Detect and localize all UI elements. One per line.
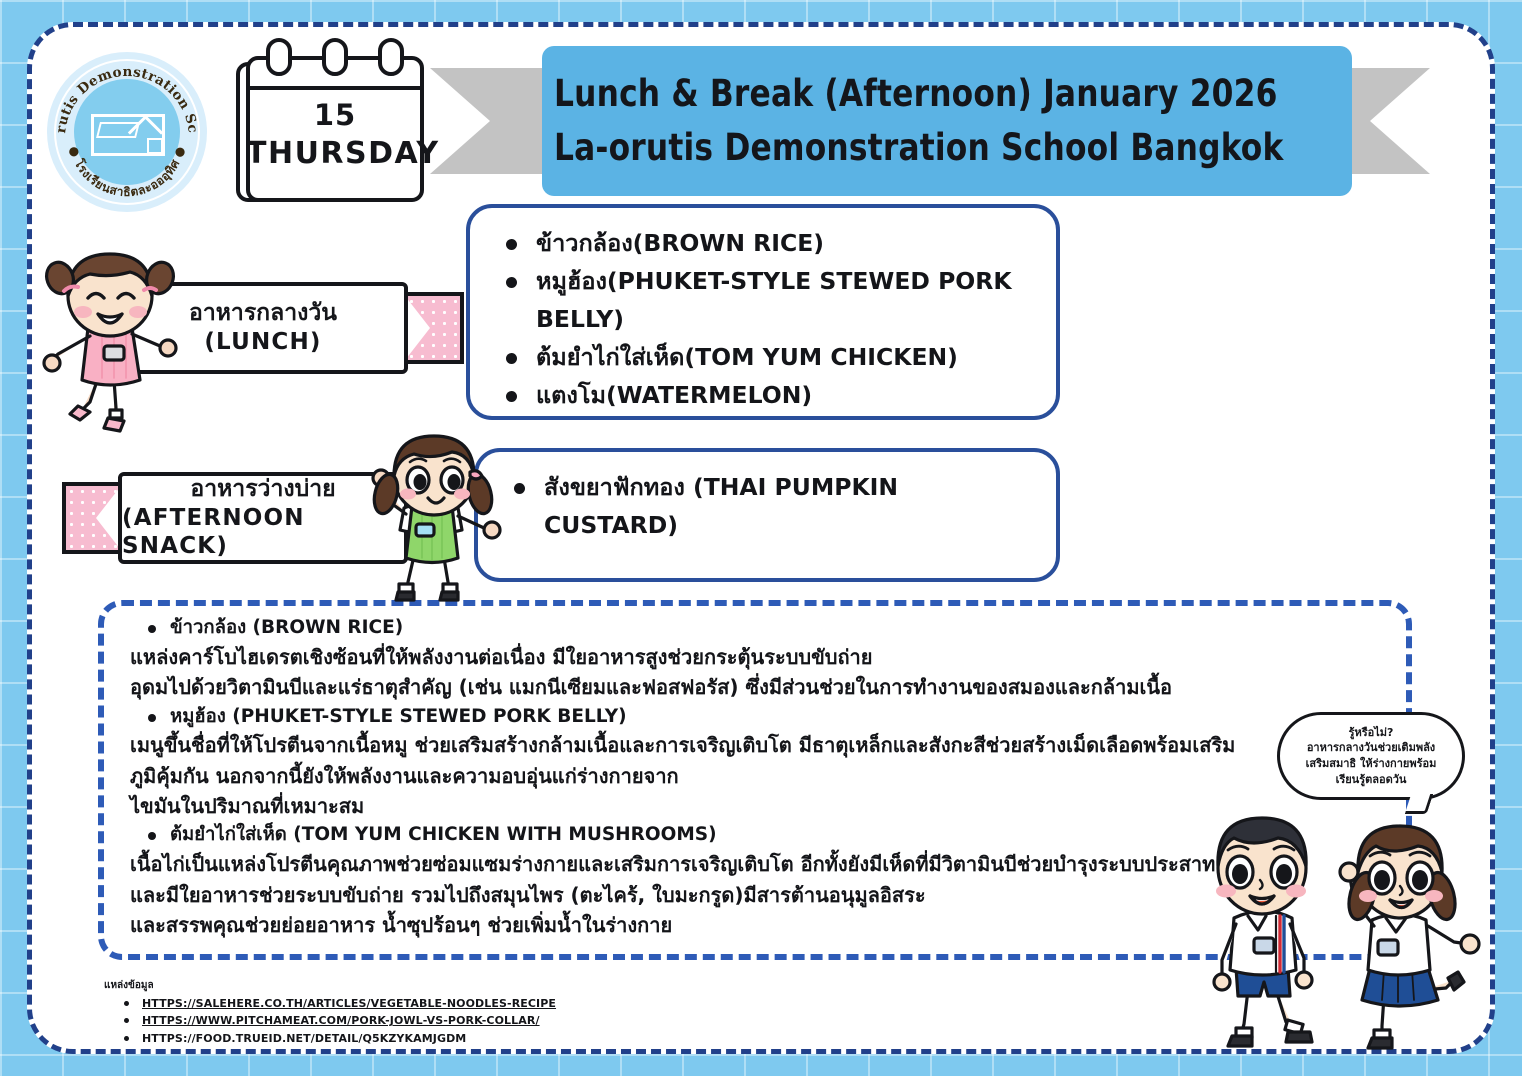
calendar-rings	[246, 38, 424, 80]
snack-label-en: (AFTERNOON SNACK)	[122, 504, 404, 562]
source-link[interactable]: HTTPS://WWW.PITCHAMEAT.COM/PORK-JOWL-VS-…	[104, 1012, 804, 1029]
snack-menu-list: สังขยาฟักทอง (THAI PUMPKIN CUSTARD)	[508, 468, 1034, 544]
list-item: สังขยาฟักทอง (THAI PUMPKIN CUSTARD)	[508, 468, 1034, 544]
list-item: แตงโม(WATERMELON)	[500, 376, 1034, 414]
sources-section: แหล่งข้อมูล HTTPS://SALEHERE.CO.TH/ARTIC…	[104, 978, 804, 1047]
list-item: ข้าวกล้อง(BROWN RICE)	[500, 224, 1034, 262]
logo-text-th: ● โรงเรียนสาธิตละอออุทิศ ●	[67, 145, 188, 199]
header-title-line2: La-orutis Demonstration School Bangkok	[554, 121, 1304, 175]
bubble-line-3: เสริมสมาธิ ให้ร่างกายพร้อม	[1306, 756, 1437, 772]
lunch-label-en: (LUNCH)	[204, 328, 321, 357]
bubble-line-1: รู้หรือไม่?	[1349, 725, 1394, 741]
students-pair-character-icon	[1192, 792, 1492, 1060]
bubble-line-2: อาหารกลางวันช่วยเติมพลัง	[1307, 740, 1435, 756]
desc-text: อุดมไปด้วยวิตามินบีและแร่ธาตุสำคัญ (เช่น…	[130, 672, 1384, 702]
source-link-text: HTTPS://SALEHERE.CO.TH/ARTICLES/VEGETABL…	[142, 997, 556, 1010]
source-link[interactable]: HTTPS://SALEHERE.CO.TH/ARTICLES/VEGETABL…	[104, 995, 804, 1012]
desc-text: ภูมิคุ้มกัน นอกจากนี้ยังให้พลังงานและควา…	[130, 761, 1384, 791]
list-item: หมูฮ้อง(PHUKET-STYLE STEWED PORK BELLY)	[500, 262, 1034, 338]
lunch-menu-box: ข้าวกล้อง(BROWN RICE) หมูฮ้อง(PHUKET-STY…	[466, 204, 1060, 420]
lunch-menu-poster: La-orutis Demonstration School ● โรงเรีย…	[0, 0, 1522, 1076]
source-link[interactable]: HTTPS://FOOD.TRUEID.NET/DETAIL/Q5KZYKAMJ…	[104, 1030, 804, 1047]
desc-text: แหล่งคาร์โบไฮเดรตเชิงซ้อนที่ให้พลังงานต่…	[130, 642, 1384, 672]
speech-bubble: รู้หรือไม่? อาหารกลางวันช่วยเติมพลัง เสร…	[1277, 712, 1465, 800]
sources-title: แหล่งข้อมูล	[104, 978, 804, 993]
header-title-banner: Lunch & Break (Afternoon) January 2026 L…	[542, 46, 1352, 196]
bubble-line-4: เรียนรู้ตลอดวัน	[1336, 772, 1407, 788]
calendar-day-name: THURSDAY	[246, 136, 424, 171]
logo-text-en: La-orutis Demonstration School	[47, 52, 201, 134]
lunch-label-th: อาหารกลางวัน	[189, 299, 337, 328]
calendar-ring	[378, 38, 404, 76]
source-link-text: HTTPS://FOOD.TRUEID.NET/DETAIL/Q5KZYKAMJ…	[142, 1032, 466, 1045]
calendar-date-number: 15	[246, 98, 424, 132]
desc-text: เมนูขึ้นชื่อที่ให้โปรตีนจากเนื้อหมู ช่วย…	[130, 730, 1384, 760]
logo-text-svg: La-orutis Demonstration School ● โรงเรีย…	[47, 52, 207, 212]
header-title-line1: Lunch & Break (Afternoon) January 2026	[554, 67, 1304, 121]
snack-label-ribbon: อาหารว่างบ่าย (AFTERNOON SNACK)	[118, 472, 408, 564]
calendar-icon: 15 THURSDAY	[236, 48, 428, 210]
sources-list: HTTPS://SALEHERE.CO.TH/ARTICLES/VEGETABL…	[104, 995, 804, 1047]
girl-pink-character-icon	[40, 250, 180, 435]
girl-green-character-icon	[370, 432, 502, 607]
calendar-ring	[322, 38, 348, 76]
list-item: ต้มยำไก่ใส่เห็ด(TOM YUM CHICKEN)	[500, 338, 1034, 376]
lunch-menu-list: ข้าวกล้อง(BROWN RICE) หมูฮ้อง(PHUKET-STY…	[500, 224, 1034, 414]
desc-heading: หมูฮ้อง (PHUKET-STYLE STEWED PORK BELLY)	[130, 703, 1384, 731]
snack-menu-box: สังขยาฟักทอง (THAI PUMPKIN CUSTARD)	[474, 448, 1060, 582]
source-link-text: HTTPS://WWW.PITCHAMEAT.COM/PORK-JOWL-VS-…	[142, 1014, 540, 1027]
desc-heading: ข้าวกล้อง (BROWN RICE)	[130, 614, 1384, 642]
school-logo: La-orutis Demonstration School ● โรงเรีย…	[47, 52, 207, 212]
snack-label-th: อาหารว่างบ่าย	[190, 475, 335, 504]
calendar-ring	[266, 38, 292, 76]
